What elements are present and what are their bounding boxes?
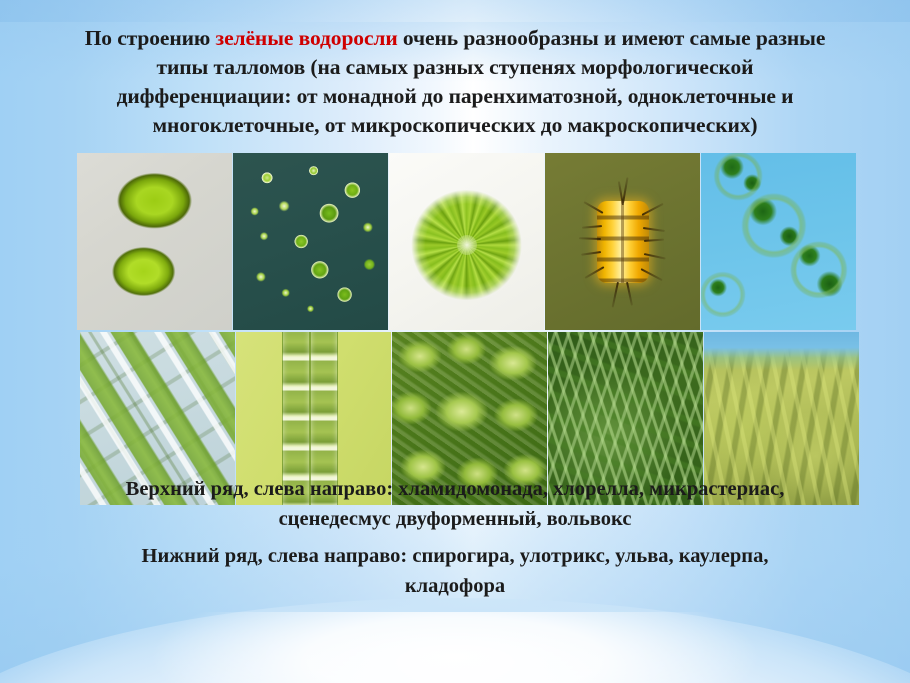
algae-grid-row-top	[77, 153, 855, 330]
heading-line4: многоклеточные, от микроскопических до м…	[10, 111, 900, 140]
heading-highlight-green-algae: зелёные водоросли	[216, 26, 398, 50]
scenedesmus-spine	[612, 282, 619, 308]
scenedesmus-spine	[579, 237, 601, 240]
algae-image-chlamydomonas[interactable]	[77, 153, 232, 330]
scenedesmus-spine	[582, 225, 602, 229]
caption-top-row: Верхний ряд, слева направо: хламидомонад…	[10, 474, 900, 504]
chlorella-micrograph	[233, 153, 388, 330]
slide-canvas: По строению зелёные водоросли очень разн…	[0, 0, 910, 683]
scenedesmus-spine	[642, 202, 664, 215]
scenedesmus-spine	[644, 253, 666, 260]
heading-line3: дифференциации: от монадной до паренхима…	[10, 82, 900, 111]
slide-heading: По строению зелёные водоросли очень разн…	[10, 24, 900, 140]
scenedesmus-colony	[597, 201, 649, 283]
algae-image-scenedesmus[interactable]	[545, 153, 700, 330]
scenedesmus-spine	[581, 251, 601, 256]
scenedesmus-micrograph	[545, 153, 700, 330]
caption-bottom-row-line2: кладофора	[10, 571, 900, 601]
scenedesmus-spine	[617, 181, 623, 205]
scenedesmus-spine	[584, 266, 604, 279]
heading-line1-before: По строению	[85, 26, 216, 50]
algae-image-chlorella[interactable]	[233, 153, 388, 330]
heading-line1-after: очень разнообразны и имеют самые разные	[398, 26, 826, 50]
scenedesmus-spine	[644, 238, 664, 241]
caption-bottom-row: Нижний ряд, слева направо: спирогира, ул…	[10, 541, 900, 601]
caption-top-row-continued: сценедесмус двуформенный, вольвокс	[10, 504, 900, 534]
scenedesmus-spine	[641, 268, 663, 281]
chlamydomonas-micrograph	[77, 153, 232, 330]
micrasterias-core	[457, 235, 477, 255]
scenedesmus-spine	[626, 282, 633, 306]
caption-bottom-row-line1: Нижний ряд, слева направо: спирогира, ул…	[10, 541, 900, 571]
algae-image-micrasterias[interactable]	[389, 153, 544, 330]
volvox-micrograph	[701, 153, 856, 330]
scenedesmus-spine	[643, 227, 665, 232]
algae-image-grid	[77, 153, 855, 505]
algae-image-volvox[interactable]	[701, 153, 856, 330]
heading-line1: По строению зелёные водоросли очень разн…	[10, 24, 900, 53]
heading-line2: типы талломов (на самых разных ступенях …	[10, 53, 900, 82]
scenedesmus-spine	[583, 201, 603, 214]
